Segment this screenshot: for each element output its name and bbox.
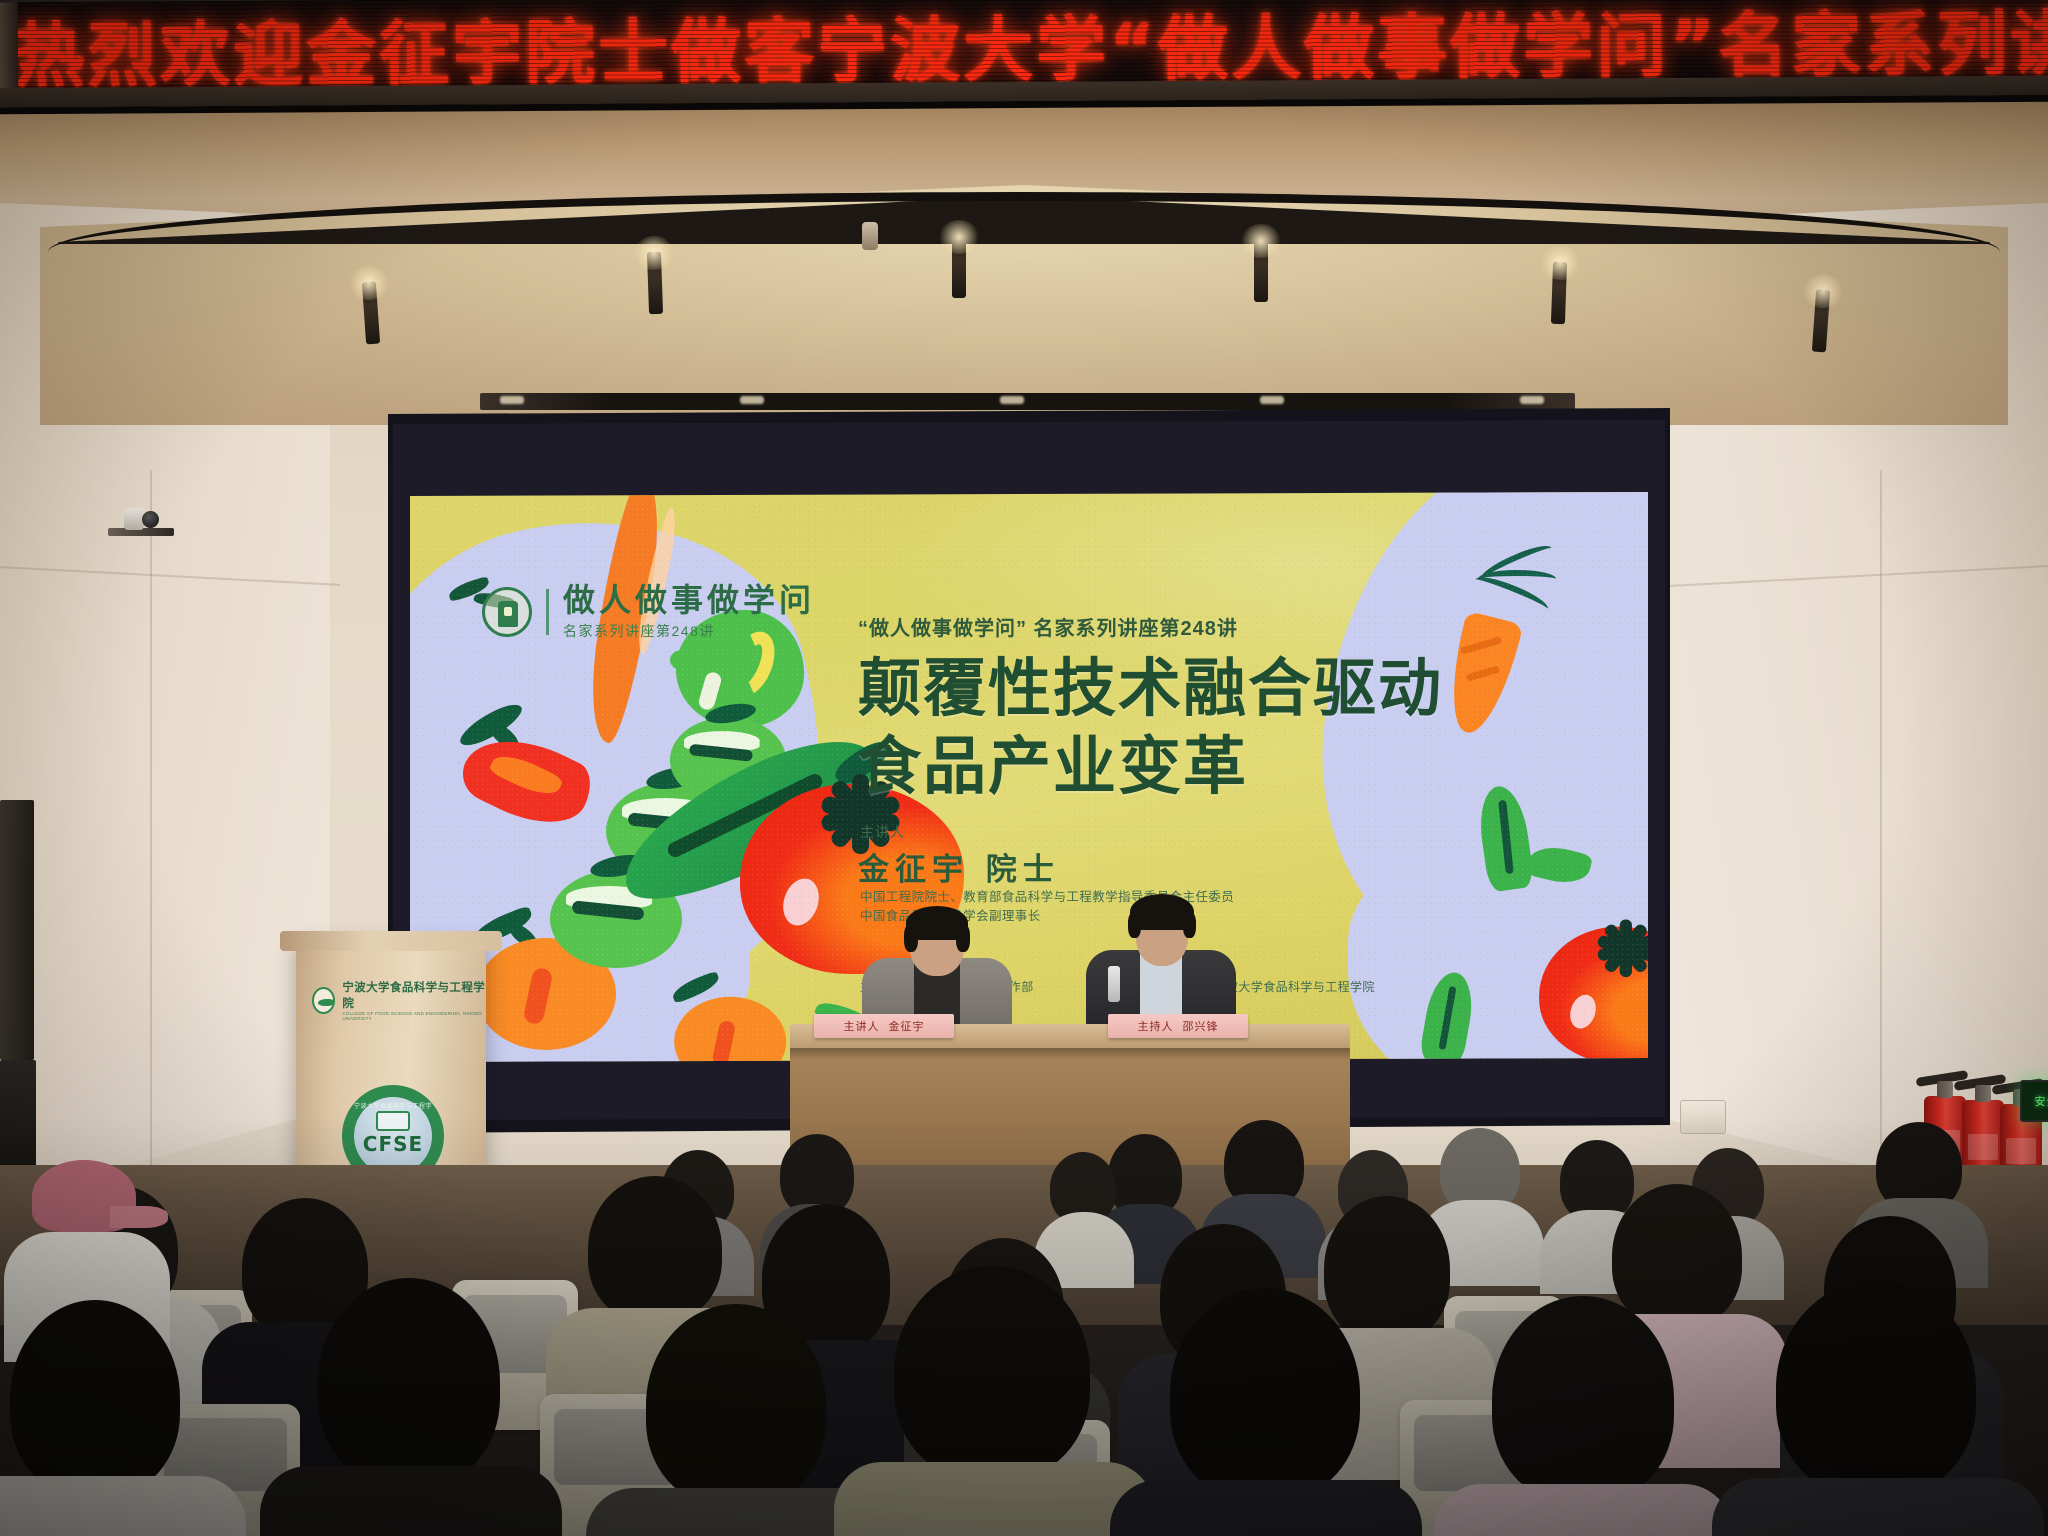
nameplate-role-left: 主讲人 [844,1018,880,1034]
audience-member [286,1278,536,1536]
podium-top-surface [280,931,502,951]
led-banner: 热烈欢迎金征宇院士做客宁波大学“做人做事做学问”名家系列讲座第248 [0,0,2048,114]
nameplate-name-left: 金征宇 [889,1018,925,1034]
audience-member [0,1300,220,1536]
exit-sign-text: 安全出口 [2035,1093,2048,1109]
wall-panel-door [0,800,34,1060]
slide-title-line-2: 食品产业变革 [858,728,1443,806]
spotlight [952,236,966,298]
series-subline: 名家系列讲座第248讲 [563,621,815,641]
logo-divider [546,589,549,635]
audience-member [858,1266,1128,1536]
nameplate-host: 主持人 邵兴锋 [1108,1014,1248,1038]
wall-outlet-plate [1680,1100,1726,1134]
lectern-podium: 宁波大学食品科学与工程学院 COLLEGE OF FOOD SCIENCE AN… [296,945,486,1200]
lecture-hall-photo: 热烈欢迎金征宇院士做客宁波大学“做人做事做学问”名家系列讲座第248 [0,0,2048,1536]
podium-org-name-en: COLLEGE OF FOOD SCIENCE AND ENGINEERING,… [342,1011,486,1021]
university-emblem-icon [482,587,532,637]
emergency-exit-sign: 安全出口 [2020,1080,2048,1122]
speaker-seated-left [862,900,1012,1030]
open-book-icon [376,1111,410,1131]
ptz-camera-icon [124,508,158,534]
microphone [1108,966,1120,1002]
speaker-name: 金征宇 院士 [858,844,1060,889]
slide-series-logo: 做人做事做学问 名家系列讲座第248讲 [482,582,815,641]
nameplate-speaker: 主讲人 金征宇 [814,1014,954,1038]
spotlight [647,252,663,314]
spotlight [1551,262,1567,324]
audience-member [1458,1296,1708,1536]
table-edge-shadow [790,1048,1350,1060]
audience-member [1136,1288,1396,1536]
series-calligraphy: 做人做事做学问 [563,582,815,618]
nameplate-name-right: 邵兴锋 [1183,1018,1219,1034]
slide-kicker: “做人做事做学问” 名家系列讲座第248讲 [858,612,1238,641]
spotlight [362,282,380,345]
slide-title-line-1: 颠覆性技术融合驱动 [858,650,1443,728]
host-seated-right [1086,890,1236,1030]
podium-org-name: 宁波大学食品科学与工程学院 [342,979,486,1011]
ceiling-sensor [862,222,878,250]
speaker-label: 主讲人 [860,822,905,842]
audience-member [1738,1280,2018,1536]
audience-member [612,1304,862,1536]
wall-seam [1880,470,1882,1170]
wall-seam [150,470,152,1170]
nameplate-role-right: 主持人 [1138,1018,1174,1034]
podium-college-logo: 宁波大学食品科学与工程学院 COLLEGE OF FOOD SCIENCE AN… [312,979,486,1021]
spotlight [1254,240,1268,302]
slide-title: 颠覆性技术融合驱动 食品产业变革 [858,650,1443,806]
college-mark-icon [312,987,335,1014]
cap-brim-icon [110,1206,168,1228]
seal-acronym: CFSE [363,1132,423,1156]
presentation-slide: 做人做事做学问 名家系列讲座第248讲 “做人做事做学问” 名家系列讲座第248… [410,492,1648,1062]
